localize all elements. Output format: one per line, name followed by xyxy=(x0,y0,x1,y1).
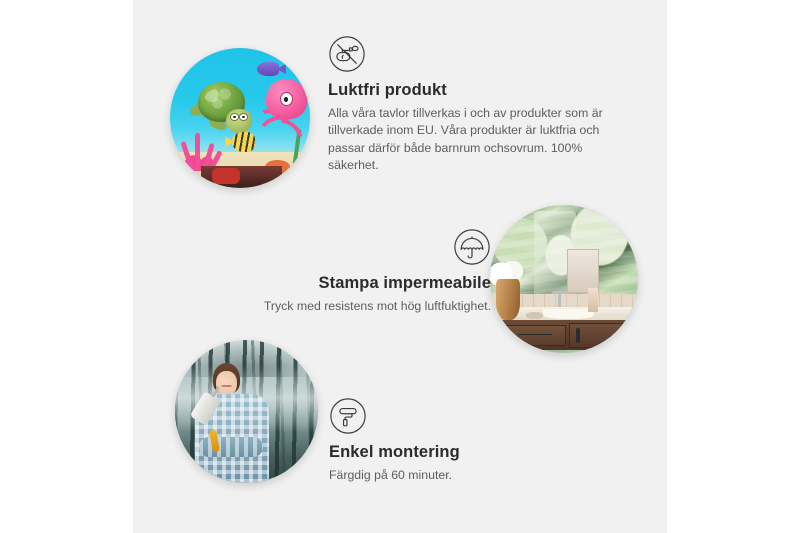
soap-dish xyxy=(526,312,544,319)
feature-block-stampa-impermeabile: Stampa impermeabile Tryck med resistens … xyxy=(193,228,491,315)
screenshot-stage: Luktfri produkt Alla våra tavlor tillver… xyxy=(0,0,800,533)
octopus-illustration xyxy=(251,79,307,143)
folded-arms xyxy=(199,437,263,456)
underwater-artwork xyxy=(170,48,310,188)
ribbed-vase xyxy=(496,279,520,320)
feature-block-enkel-montering: Enkel montering Färgdig på 60 minuter. xyxy=(329,397,609,484)
turtle-eye xyxy=(230,113,239,121)
vanity-drawer xyxy=(504,325,566,345)
no-odor-perfume-bottle-icon xyxy=(328,35,366,73)
bathroom-mirror xyxy=(567,249,599,292)
woman-face xyxy=(216,371,237,396)
feature-description: Tryck med resistens mot hög luftfuktighe… xyxy=(193,298,491,315)
octopus-eye xyxy=(280,92,293,106)
feature-block-luktfri-produkt: Luktfri produkt Alla våra tavlor tillver… xyxy=(328,35,628,175)
woman-illustration xyxy=(192,363,272,483)
product-features-panel: Luktfri produkt Alla våra tavlor tillver… xyxy=(133,0,667,533)
octopus-body xyxy=(266,79,307,119)
bathroom-artwork xyxy=(490,205,638,353)
paint-roller-icon xyxy=(329,397,367,435)
turtle-eye xyxy=(239,113,248,121)
feature-title: Enkel montering xyxy=(329,443,609,462)
feature-image-underwater-scene xyxy=(170,48,310,188)
turtle-head xyxy=(226,109,252,132)
wooden-vanity-cabinet xyxy=(496,320,632,350)
reef-foreground xyxy=(201,166,282,188)
turtle-illustration xyxy=(195,82,259,135)
striped-fish-illustration xyxy=(232,132,256,152)
sink-basin xyxy=(543,309,593,319)
toiletry-bottle xyxy=(588,288,598,312)
feature-image-bathroom-interior xyxy=(490,205,638,353)
feature-description: Alla våra tavlor tillverkas i och av pro… xyxy=(328,105,628,175)
feature-title: Luktfri produkt xyxy=(328,81,628,100)
umbrella-icon xyxy=(453,228,491,266)
vanity-door xyxy=(569,323,625,347)
feature-image-woman-with-roller xyxy=(175,340,318,483)
feature-title: Stampa impermeabile xyxy=(193,274,491,293)
purple-fish-illustration xyxy=(257,62,279,76)
feature-description: Färgdig på 60 minuter. xyxy=(329,467,609,484)
forest-mural-artwork xyxy=(175,340,318,483)
